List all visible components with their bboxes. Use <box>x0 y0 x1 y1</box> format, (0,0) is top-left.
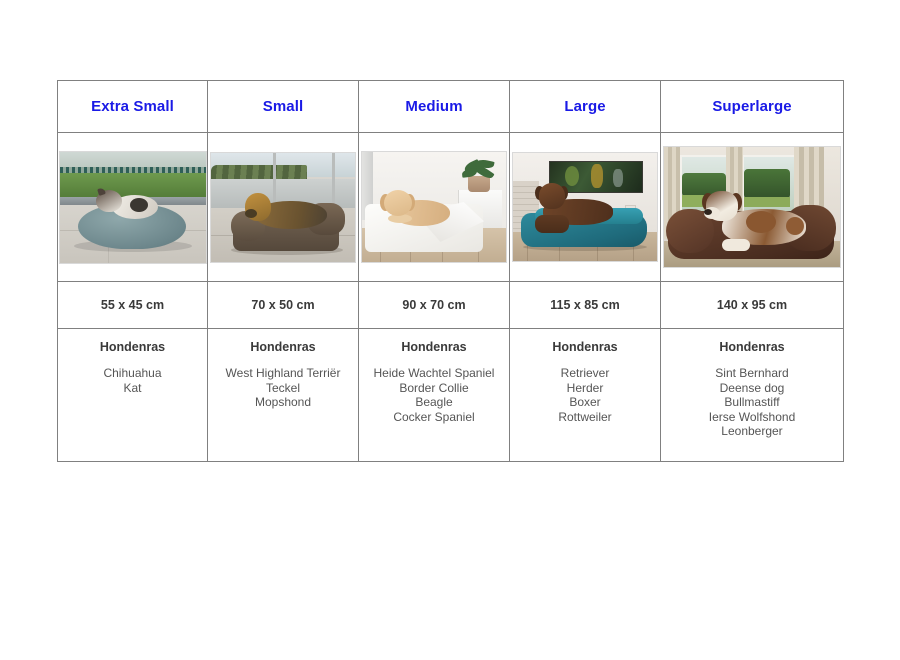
breed-item: Bullmastiff <box>661 395 843 410</box>
breed-item: Boxer <box>510 395 660 410</box>
header-cell-medium: Medium <box>359 81 510 133</box>
size-name-label: Superlarge <box>661 99 843 114</box>
breed-item: Ierse Wolfshond <box>661 410 843 425</box>
dimensions-cell-large: 115 x 85 cm <box>510 282 661 329</box>
table-header-row: Extra Small Small Medium Large Superlarg… <box>58 81 844 133</box>
dimensions-label: 70 x 50 cm <box>208 298 358 312</box>
image-cell-medium <box>359 133 510 282</box>
image-cell-small <box>208 133 359 282</box>
page-root: Extra Small Small Medium Large Superlarg… <box>0 0 900 660</box>
breed-item: Herder <box>510 381 660 396</box>
breed-item: Rottweiler <box>510 410 660 425</box>
size-name-label: Medium <box>359 99 509 114</box>
product-photo-extra-small <box>59 151 207 264</box>
dimensions-cell-small: 70 x 50 cm <box>208 282 359 329</box>
dimensions-cell-medium: 90 x 70 cm <box>359 282 510 329</box>
breed-heading: Hondenras <box>208 340 358 354</box>
breed-item: Chihuahua <box>58 366 207 381</box>
breed-item: Beagle <box>359 395 509 410</box>
breed-item: Teckel <box>208 381 358 396</box>
breed-item: Sint Bernhard <box>661 366 843 381</box>
breeds-cell-medium: Hondenras Heide Wachtel Spaniel Border C… <box>359 329 510 462</box>
breed-heading: Hondenras <box>510 340 660 354</box>
breed-item: Cocker Spaniel <box>359 410 509 425</box>
breed-heading: Hondenras <box>58 340 207 354</box>
table-image-row <box>58 133 844 282</box>
product-photo-superlarge <box>663 146 841 268</box>
size-name-label: Small <box>208 99 358 114</box>
dimensions-label: 140 x 95 cm <box>661 298 843 312</box>
image-cell-large <box>510 133 661 282</box>
breed-item: Deense dog <box>661 381 843 396</box>
breed-heading: Hondenras <box>661 340 843 354</box>
image-cell-superlarge <box>661 133 844 282</box>
header-cell-extra-small: Extra Small <box>58 81 208 133</box>
breeds-cell-extra-small: Hondenras Chihuahua Kat <box>58 329 208 462</box>
dimensions-cell-superlarge: 140 x 95 cm <box>661 282 844 329</box>
breed-item: Heide Wachtel Spaniel <box>359 366 509 381</box>
dog-bed-size-table: Extra Small Small Medium Large Superlarg… <box>57 80 844 462</box>
dimensions-cell-extra-small: 55 x 45 cm <box>58 282 208 329</box>
product-photo-large <box>512 152 658 262</box>
dimensions-label: 90 x 70 cm <box>359 298 509 312</box>
breeds-cell-small: Hondenras West Highland Terriër Teckel M… <box>208 329 359 462</box>
breed-item: Kat <box>58 381 207 396</box>
product-photo-small <box>210 152 356 263</box>
breed-item: Border Collie <box>359 381 509 396</box>
product-photo-medium <box>361 151 507 263</box>
image-cell-extra-small <box>58 133 208 282</box>
breeds-cell-superlarge: Hondenras Sint Bernhard Deense dog Bullm… <box>661 329 844 462</box>
breed-item: Mopshond <box>208 395 358 410</box>
header-cell-superlarge: Superlarge <box>661 81 844 133</box>
header-cell-small: Small <box>208 81 359 133</box>
breed-item: West Highland Terriër <box>208 366 358 381</box>
table-breeds-row: Hondenras Chihuahua Kat Hondenras West H… <box>58 329 844 462</box>
header-cell-large: Large <box>510 81 661 133</box>
breeds-cell-large: Hondenras Retriever Herder Boxer Rottwei… <box>510 329 661 462</box>
breed-heading: Hondenras <box>359 340 509 354</box>
dimensions-label: 115 x 85 cm <box>510 298 660 312</box>
breed-item: Leonberger <box>661 424 843 439</box>
table-dimensions-row: 55 x 45 cm 70 x 50 cm 90 x 70 cm 115 x 8… <box>58 282 844 329</box>
size-name-label: Extra Small <box>58 99 207 114</box>
breed-item: Retriever <box>510 366 660 381</box>
size-name-label: Large <box>510 99 660 114</box>
dimensions-label: 55 x 45 cm <box>58 298 207 312</box>
